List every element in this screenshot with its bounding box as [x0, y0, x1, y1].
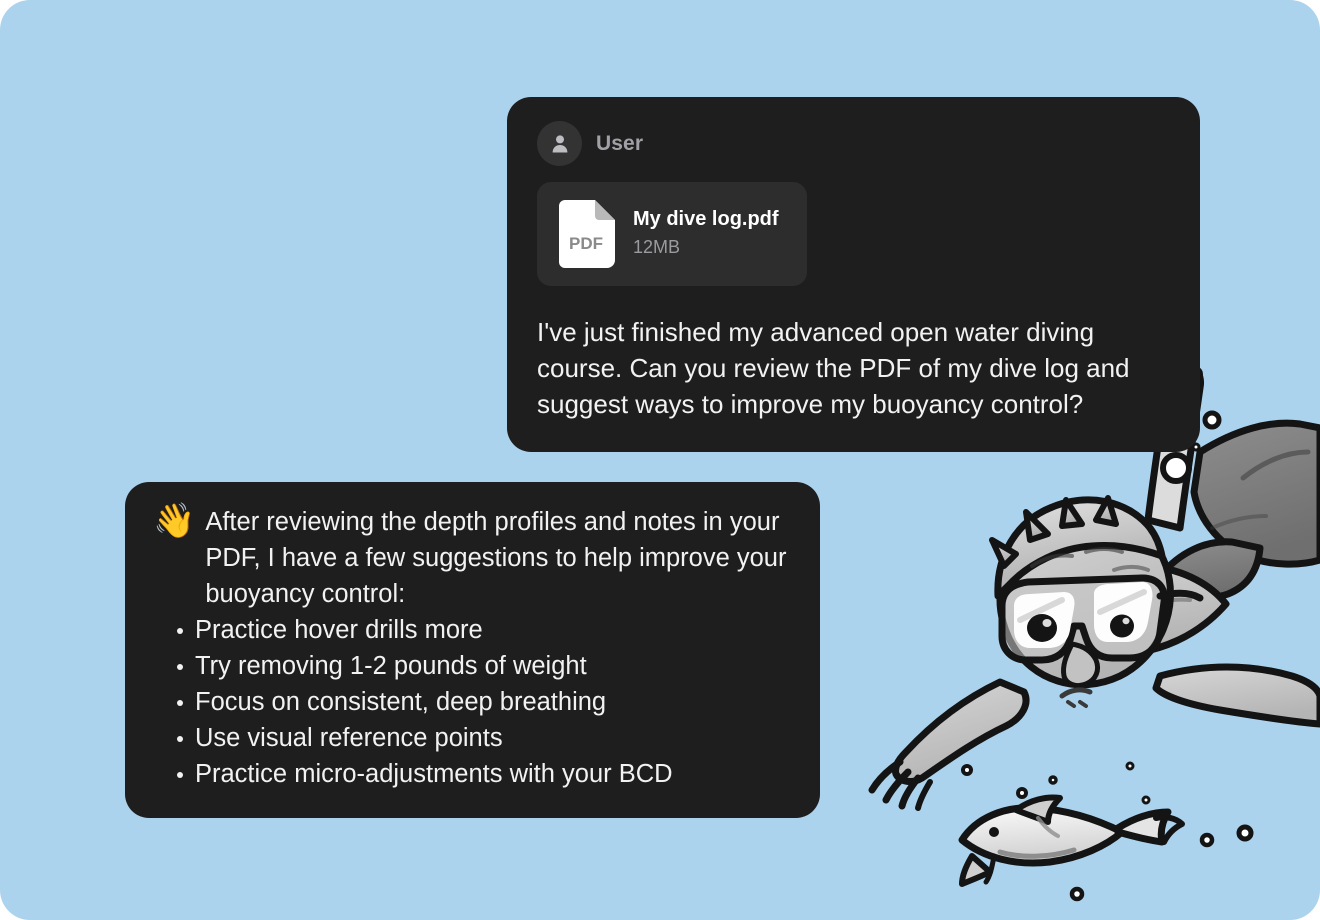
user-message-text: I've just finished my advanced open wate…	[537, 314, 1170, 422]
list-item: Try removing 1-2 pounds of weight	[153, 648, 794, 684]
screenshot-root: User PDF My dive log.pdf 12MB I've just …	[0, 0, 1320, 920]
attachment-meta: My dive log.pdf 12MB	[633, 207, 779, 260]
list-item: Use visual reference points	[153, 720, 794, 756]
list-item: Practice micro-adjustments with your BCD	[153, 756, 794, 792]
assistant-message-bubble: 👋 After reviewing the depth profiles and…	[125, 482, 820, 818]
pdf-file-icon: PDF	[559, 200, 615, 268]
suggestion-list: Practice hover drills more Try removing …	[153, 612, 794, 792]
assistant-intro-row: 👋 After reviewing the depth profiles and…	[153, 504, 794, 612]
user-message-bubble: User PDF My dive log.pdf 12MB I've just …	[507, 97, 1200, 452]
assistant-intro-text: After reviewing the depth profiles and n…	[205, 504, 794, 612]
list-item: Focus on consistent, deep breathing	[153, 684, 794, 720]
svg-text:PDF: PDF	[569, 234, 603, 253]
fish-illustration	[962, 798, 1182, 885]
attachment-file-size: 12MB	[633, 235, 779, 260]
list-item: Practice hover drills more	[153, 612, 794, 648]
attachment-card[interactable]: PDF My dive log.pdf 12MB	[537, 182, 807, 286]
bubbles-illustration	[963, 391, 1251, 899]
dive-mask-icon	[1002, 578, 1200, 660]
person-avatar-icon	[548, 132, 572, 156]
user-message-header: User	[537, 121, 1170, 166]
avatar	[537, 121, 582, 166]
attachment-file-name: My dive log.pdf	[633, 207, 779, 232]
waving-hand-icon: 👋	[153, 503, 195, 539]
user-name-label: User	[596, 132, 643, 156]
